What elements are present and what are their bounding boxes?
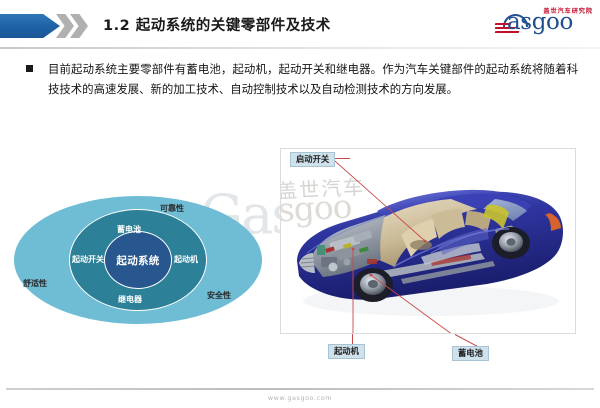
callout-battery: 蓄电池 xyxy=(452,346,489,361)
diagram-label-safety: 安全性 xyxy=(207,290,231,301)
diagram-label-comfort: 舒适性 xyxy=(23,278,47,289)
diagram-label-reliability: 可靠性 xyxy=(160,203,184,214)
starting-system-venn-diagram: 起动系统 可靠性 舒适性 安全性 蓄电池 起动开关 起动机 继电器 xyxy=(14,196,262,324)
car-cutaway-graphic xyxy=(281,149,576,334)
logo-wordmark: asgoo xyxy=(507,11,573,34)
car-cutaway-panel: 盖世汽车 asgoo xyxy=(280,148,576,334)
diagram-label-battery: 蓄电池 xyxy=(117,224,141,235)
callout-starter-motor: 起动机 xyxy=(328,344,365,359)
body-paragraph: 目前起动系统主要零部件有蓄电池，起动机，起动开关和继电器。作为汽车关键部件的起动… xyxy=(48,60,578,99)
slide-canvas: 1.2 起动系统的关键零部件及技术 盖世汽车研究院 asgoo 目前起动系统主要… xyxy=(0,0,600,408)
bullet-square-icon xyxy=(26,65,33,72)
header-divider xyxy=(0,47,600,49)
diagram-label-start-switch: 起动开关 xyxy=(72,254,104,265)
header-arrow-banner xyxy=(0,14,60,38)
callout-start-switch: 启动开关 xyxy=(290,152,335,167)
diagram-label-starter-motor: 起动机 xyxy=(174,254,198,265)
footer-url: www.gasgoo.com xyxy=(0,394,600,402)
slide-header: 1.2 起动系统的关键零部件及技术 盖世汽车研究院 asgoo xyxy=(0,0,600,50)
diagram-core-circle: 起动系统 xyxy=(104,231,172,289)
diagram-label-relay: 继电器 xyxy=(118,294,142,305)
body-paragraph-block: 目前起动系统主要零部件有蓄电池，起动机，起动开关和继电器。作为汽车关键部件的起动… xyxy=(26,60,578,99)
diagram-core-label: 起动系统 xyxy=(116,253,159,268)
page-title: 1.2 起动系统的关键零部件及技术 xyxy=(103,14,331,35)
gasgoo-logo: 盖世汽车研究院 asgoo xyxy=(490,6,594,42)
footer-divider xyxy=(6,388,594,390)
